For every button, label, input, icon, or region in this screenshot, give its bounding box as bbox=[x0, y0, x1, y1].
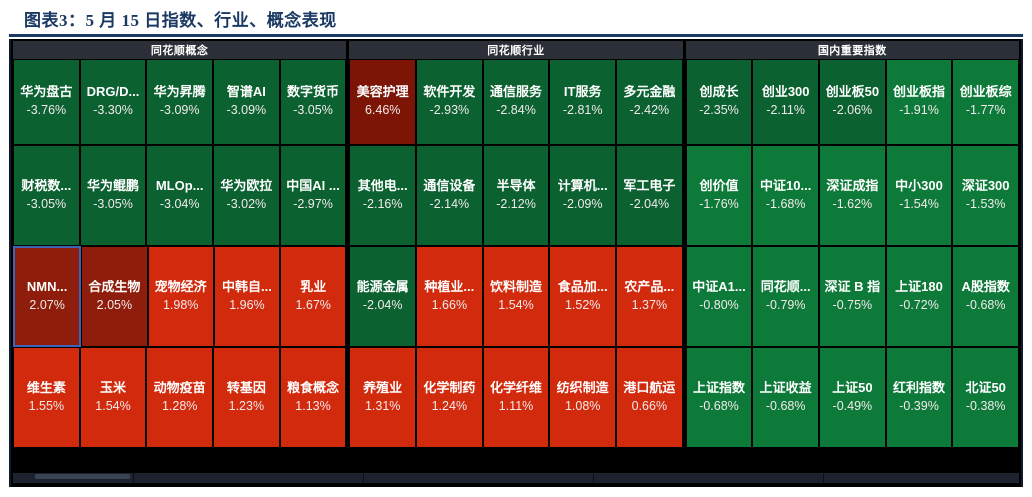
tile-label: 化学纤维 bbox=[490, 381, 542, 396]
tile-value: 1.55% bbox=[29, 398, 64, 414]
tile-value: -2.04% bbox=[630, 196, 670, 212]
heatmap-tile[interactable]: 能源金属-2.04% bbox=[349, 246, 416, 347]
group-column-2: 创成长-2.35%创业300-2.11%创业板50-2.06%创业板指-1.91… bbox=[686, 59, 1019, 145]
scrollbar-tick bbox=[593, 473, 594, 483]
heatmap-tile[interactable]: 创业300-2.11% bbox=[752, 59, 819, 145]
tile-label: 食品加... bbox=[558, 280, 608, 295]
tile-label: 创成长 bbox=[699, 85, 738, 100]
heatmap-tile[interactable]: 饮料制造1.54% bbox=[483, 246, 550, 347]
heatmap-tile[interactable]: 华为欧拉-3.02% bbox=[213, 145, 280, 246]
tile-label: DRG/D... bbox=[87, 85, 140, 100]
tile-value: -0.72% bbox=[899, 297, 939, 313]
heatmap-tile[interactable]: 美容护理6.46% bbox=[349, 59, 416, 145]
tile-label: 玉米 bbox=[100, 381, 126, 396]
scrollbar-thumb[interactable] bbox=[35, 474, 130, 479]
tile-label: 纺织制造 bbox=[557, 381, 609, 396]
group-column-2: 上证指数-0.68%上证收益-0.68%上证50-0.49%红利指数-0.39%… bbox=[686, 347, 1019, 448]
tile-value: -2.35% bbox=[699, 102, 739, 118]
tile-label: 中证10... bbox=[760, 179, 811, 194]
tile-value: -3.09% bbox=[227, 102, 267, 118]
tile-label: 华为昇腾 bbox=[154, 85, 206, 100]
heatmap-tile[interactable]: 半导体-2.12% bbox=[483, 145, 550, 246]
heatmap-tile[interactable]: 维生素1.55% bbox=[13, 347, 80, 448]
tile-label: 中证A1... bbox=[692, 280, 745, 295]
tile-label: 创价值 bbox=[699, 179, 738, 194]
heatmap-tile[interactable]: 玉米1.54% bbox=[80, 347, 147, 448]
tile-label: 上证50 bbox=[832, 381, 872, 396]
tile-label: MLOp... bbox=[156, 179, 204, 194]
tile-label: 华为欧拉 bbox=[220, 179, 272, 194]
tile-label: 粮食概念 bbox=[287, 381, 339, 396]
tile-value: -3.05% bbox=[27, 196, 67, 212]
tile-value: -0.80% bbox=[699, 297, 739, 313]
heatmap-tile[interactable]: 港口航运0.66% bbox=[616, 347, 683, 448]
heatmap-tile[interactable]: 创业板50-2.06% bbox=[819, 59, 886, 145]
heatmap-tile[interactable]: 上证收益-0.68% bbox=[752, 347, 819, 448]
tile-value: -2.84% bbox=[496, 102, 536, 118]
group-header-row: 同花顺概念同花顺行业国内重要指数 bbox=[13, 41, 1019, 59]
group-header-1: 同花顺行业 bbox=[349, 41, 685, 59]
tile-label: 农产品... bbox=[624, 280, 674, 295]
tile-label: 同花顺... bbox=[761, 280, 811, 295]
tile-label: 通信服务 bbox=[490, 85, 542, 100]
tile-label: 美容护理 bbox=[357, 85, 409, 100]
heatmap-tile[interactable]: 数字货币-3.05% bbox=[280, 59, 347, 145]
heatmap-tile[interactable]: 软件开发-2.93% bbox=[416, 59, 483, 145]
tile-value: 1.24% bbox=[432, 398, 467, 414]
group-column-1: 能源金属-2.04%种植业...1.66%饮料制造1.54%食品加...1.52… bbox=[349, 246, 685, 347]
tile-value: -3.76% bbox=[27, 102, 67, 118]
heatmap-tile[interactable]: 上证50-0.49% bbox=[819, 347, 886, 448]
tile-value: -3.30% bbox=[93, 102, 133, 118]
heatmap-tile[interactable]: 其他电...-2.16% bbox=[349, 145, 416, 246]
group-column-2: 中证A1...-0.80%同花顺...-0.79%深证 B 指-0.75%上证1… bbox=[686, 246, 1019, 347]
tile-label: 深证 B 指 bbox=[825, 280, 881, 295]
heatmap-tile[interactable]: 纺织制造1.08% bbox=[549, 347, 616, 448]
scrollbar-tick bbox=[133, 473, 134, 483]
tile-label: 乳业 bbox=[300, 280, 326, 295]
tile-value: 1.13% bbox=[295, 398, 330, 414]
tile-value: -2.81% bbox=[563, 102, 603, 118]
heatmap-tile[interactable]: 化学纤维1.11% bbox=[483, 347, 550, 448]
tile-label: IT服务 bbox=[564, 85, 602, 100]
tile-value: 0.66% bbox=[632, 398, 667, 414]
heatmap-tile[interactable]: 通信设备-2.14% bbox=[416, 145, 483, 246]
scrollbar-tick bbox=[363, 473, 364, 483]
tile-value: -2.42% bbox=[630, 102, 670, 118]
heatmap-tile[interactable]: 乳业1.67% bbox=[280, 246, 346, 347]
tile-label: 上证收益 bbox=[760, 381, 812, 396]
tile-value: 1.28% bbox=[162, 398, 197, 414]
tile-value: -2.93% bbox=[430, 102, 470, 118]
tile-label: 上证180 bbox=[895, 280, 943, 295]
tile-value: -2.04% bbox=[363, 297, 403, 313]
tile-value: 1.11% bbox=[499, 398, 534, 414]
tile-value: 1.96% bbox=[229, 297, 264, 313]
tile-value: -3.09% bbox=[160, 102, 200, 118]
heatmap-tile[interactable]: 食品加...1.52% bbox=[549, 246, 616, 347]
tile-value: -3.04% bbox=[160, 196, 200, 212]
tile-value: -1.68% bbox=[766, 196, 806, 212]
heatmap-row: 华为盘古-3.76%DRG/D...-3.30%华为昇腾-3.09%智谱AI-3… bbox=[13, 59, 1019, 145]
heatmap-panel: 同花顺概念同花顺行业国内重要指数 华为盘古-3.76%DRG/D...-3.30… bbox=[9, 39, 1023, 487]
heatmap-tile[interactable]: 军工电子-2.04% bbox=[616, 145, 683, 246]
heatmap-grid: 华为盘古-3.76%DRG/D...-3.30%华为昇腾-3.09%智谱AI-3… bbox=[13, 59, 1019, 448]
heatmap-tile[interactable]: 中国AI ...-2.97% bbox=[280, 145, 347, 246]
heatmap-tile[interactable]: 合成生物2.05% bbox=[81, 246, 147, 347]
tile-value: 2.07% bbox=[29, 297, 64, 313]
tile-value: -0.68% bbox=[766, 398, 806, 414]
tile-value: 1.98% bbox=[163, 297, 198, 313]
heatmap-tile[interactable]: 计算机...-2.09% bbox=[549, 145, 616, 246]
tile-label: 港口航运 bbox=[623, 381, 675, 396]
heatmap-row: NMN...2.07%合成生物2.05%宠物经济1.98%中韩自...1.96%… bbox=[13, 246, 1019, 347]
tile-label: 软件开发 bbox=[423, 85, 475, 100]
heatmap-tile[interactable]: A股指数-0.68% bbox=[952, 246, 1019, 347]
tile-value: -0.75% bbox=[833, 297, 873, 313]
tile-value: 2.05% bbox=[97, 297, 132, 313]
tile-value: 1.37% bbox=[632, 297, 667, 313]
group-column-1: 美容护理6.46%软件开发-2.93%通信服务-2.84%IT服务-2.81%多… bbox=[349, 59, 685, 145]
heatmap-tile[interactable]: 中小300-1.54% bbox=[886, 145, 953, 246]
horizontal-scrollbar[interactable] bbox=[13, 473, 1019, 483]
tile-value: -3.05% bbox=[93, 196, 133, 212]
heatmap-tile[interactable]: 深证成指-1.62% bbox=[819, 145, 886, 246]
tile-label: 华为盘古 bbox=[20, 85, 72, 100]
tile-value: 1.23% bbox=[229, 398, 264, 414]
tile-label: 宠物经济 bbox=[155, 280, 207, 295]
heatmap-tile[interactable]: 转基因1.23% bbox=[213, 347, 280, 448]
heatmap-tile[interactable]: 化学制药1.24% bbox=[416, 347, 483, 448]
tile-value: -2.09% bbox=[563, 196, 603, 212]
tile-value: -1.91% bbox=[899, 102, 939, 118]
heatmap-tile[interactable]: 创价值-1.76% bbox=[686, 145, 753, 246]
tile-label: 通信设备 bbox=[423, 179, 475, 194]
tile-value: 1.54% bbox=[498, 297, 533, 313]
heatmap-tile[interactable]: MLOp...-3.04% bbox=[146, 145, 213, 246]
tile-label: 维生素 bbox=[27, 381, 66, 396]
tile-value: -0.49% bbox=[833, 398, 873, 414]
heatmap-tile[interactable]: 上证180-0.72% bbox=[886, 246, 953, 347]
page-title: 图表3：5 月 15 日指数、行业、概念表现 bbox=[24, 6, 337, 31]
tile-label: 能源金属 bbox=[357, 280, 409, 295]
heatmap-tile[interactable]: IT服务-2.81% bbox=[549, 59, 616, 145]
tile-label: 化学制药 bbox=[423, 381, 475, 396]
tile-value: 1.54% bbox=[95, 398, 130, 414]
tile-label: 转基因 bbox=[227, 381, 266, 396]
tile-label: 中小300 bbox=[895, 179, 943, 194]
heatmap-tile[interactable]: 中韩自...1.96% bbox=[214, 246, 280, 347]
tile-label: 计算机... bbox=[558, 179, 608, 194]
group-column-0: 财税数...-3.05%华为鲲鹏-3.05%MLOp...-3.04%华为欧拉-… bbox=[13, 145, 349, 246]
tile-value: -1.62% bbox=[833, 196, 873, 212]
heatmap-tile[interactable]: 深证 B 指-0.75% bbox=[819, 246, 886, 347]
heatmap-tile[interactable]: 粮食概念1.13% bbox=[280, 347, 347, 448]
tile-value: -3.02% bbox=[227, 196, 267, 212]
tile-label: 深证成指 bbox=[826, 179, 878, 194]
scrollbar-tick bbox=[823, 473, 824, 483]
tile-value: -1.76% bbox=[699, 196, 739, 212]
tile-label: 创业300 bbox=[762, 85, 810, 100]
tile-label: 深证300 bbox=[962, 179, 1010, 194]
group-column-2: 创价值-1.76%中证10...-1.68%深证成指-1.62%中小300-1.… bbox=[686, 145, 1019, 246]
tile-label: 创业板综 bbox=[960, 85, 1012, 100]
tile-value: -2.97% bbox=[293, 196, 333, 212]
tile-value: 6.46% bbox=[365, 102, 400, 118]
heatmap-tile[interactable]: 财税数...-3.05% bbox=[13, 145, 80, 246]
title-area: 图表3：5 月 15 日指数、行业、概念表现 bbox=[0, 0, 1032, 38]
tile-label: 军工电子 bbox=[623, 179, 675, 194]
heatmap-tile[interactable]: 农产品...1.37% bbox=[616, 246, 683, 347]
tile-label: 种植业... bbox=[424, 280, 474, 295]
tile-label: 创业板指 bbox=[893, 85, 945, 100]
heatmap-row: 维生素1.55%玉米1.54%动物疫苗1.28%转基因1.23%粮食概念1.13… bbox=[13, 347, 1019, 448]
tile-label: 红利指数 bbox=[893, 381, 945, 396]
heatmap-tile[interactable]: 北证50-0.38% bbox=[952, 347, 1019, 448]
tile-label: 创业板50 bbox=[826, 85, 879, 100]
tile-value: -1.54% bbox=[899, 196, 939, 212]
tile-label: 动物疫苗 bbox=[154, 381, 206, 396]
heatmap-tile[interactable]: 华为昇腾-3.09% bbox=[146, 59, 213, 145]
tile-value: -2.11% bbox=[766, 102, 805, 118]
heatmap-row: 财税数...-3.05%华为鲲鹏-3.05%MLOp...-3.04%华为欧拉-… bbox=[13, 145, 1019, 246]
heatmap-tile[interactable]: 华为鲲鹏-3.05% bbox=[80, 145, 147, 246]
heatmap-tile[interactable]: 创业板指-1.91% bbox=[886, 59, 953, 145]
group-column-0: 维生素1.55%玉米1.54%动物疫苗1.28%转基因1.23%粮食概念1.13… bbox=[13, 347, 349, 448]
tile-value: -2.12% bbox=[496, 196, 536, 212]
heatmap-tile[interactable]: 宠物经济1.98% bbox=[148, 246, 214, 347]
heatmap-tile[interactable]: 华为盘古-3.76% bbox=[13, 59, 80, 145]
tile-value: -2.16% bbox=[363, 196, 403, 212]
heatmap-tile[interactable]: 红利指数-0.39% bbox=[886, 347, 953, 448]
tile-label: 智谱AI bbox=[227, 85, 266, 100]
heatmap-tile[interactable]: 中证A1...-0.80% bbox=[686, 246, 753, 347]
tile-value: -1.53% bbox=[966, 196, 1006, 212]
group-header-0: 同花顺概念 bbox=[13, 41, 349, 59]
tile-value: 1.67% bbox=[295, 297, 330, 313]
tile-value: -0.39% bbox=[899, 398, 939, 414]
tile-label: 财税数... bbox=[21, 179, 71, 194]
tile-label: 多元金融 bbox=[623, 85, 675, 100]
heatmap-tile[interactable]: NMN...2.07% bbox=[13, 246, 81, 347]
tile-value: -3.05% bbox=[293, 102, 333, 118]
tile-label: 数字货币 bbox=[287, 85, 339, 100]
heatmap-tile[interactable]: 智谱AI-3.09% bbox=[213, 59, 280, 145]
tile-label: 北证50 bbox=[965, 381, 1005, 396]
tile-value: -0.68% bbox=[966, 297, 1006, 313]
tile-label: 饮料制造 bbox=[490, 280, 542, 295]
group-column-1: 其他电...-2.16%通信设备-2.14%半导体-2.12%计算机...-2.… bbox=[349, 145, 685, 246]
tile-label: 其他电... bbox=[358, 179, 408, 194]
heatmap-page: 图表3：5 月 15 日指数、行业、概念表现 同花顺概念同花顺行业国内重要指数 … bbox=[0, 0, 1032, 497]
tile-label: A股指数 bbox=[961, 280, 1009, 295]
heatmap-tile[interactable]: 创业板综-1.77% bbox=[952, 59, 1019, 145]
heatmap-tile[interactable]: DRG/D...-3.30% bbox=[80, 59, 147, 145]
tile-label: 中国AI ... bbox=[286, 179, 339, 194]
tile-value: -0.68% bbox=[699, 398, 739, 414]
tile-label: 养殖业 bbox=[363, 381, 402, 396]
heatmap-tile[interactable]: 同花顺...-0.79% bbox=[752, 246, 819, 347]
heatmap-tile[interactable]: 多元金融-2.42% bbox=[616, 59, 683, 145]
group-column-1: 养殖业1.31%化学制药1.24%化学纤维1.11%纺织制造1.08%港口航运0… bbox=[349, 347, 685, 448]
group-header-2: 国内重要指数 bbox=[686, 41, 1019, 59]
heatmap-tile[interactable]: 种植业...1.66% bbox=[416, 246, 483, 347]
heatmap-tile[interactable]: 深证300-1.53% bbox=[952, 145, 1019, 246]
tile-label: 合成生物 bbox=[88, 280, 140, 295]
group-column-0: 华为盘古-3.76%DRG/D...-3.30%华为昇腾-3.09%智谱AI-3… bbox=[13, 59, 349, 145]
tile-value: 1.52% bbox=[565, 297, 600, 313]
title-divider bbox=[9, 34, 1023, 37]
heatmap-tile[interactable]: 创成长-2.35% bbox=[686, 59, 753, 145]
tile-label: 中韩自... bbox=[222, 280, 272, 295]
tile-value: 1.66% bbox=[432, 297, 467, 313]
heatmap-tile[interactable]: 养殖业1.31% bbox=[349, 347, 416, 448]
tile-value: -2.14% bbox=[430, 196, 470, 212]
tile-value: -0.38% bbox=[966, 398, 1006, 414]
tile-label: 华为鲲鹏 bbox=[87, 179, 139, 194]
tile-value: -1.77% bbox=[966, 102, 1006, 118]
heatmap-tile[interactable]: 通信服务-2.84% bbox=[483, 59, 550, 145]
heatmap-tile[interactable]: 中证10...-1.68% bbox=[752, 145, 819, 246]
tile-value: -0.79% bbox=[766, 297, 806, 313]
tile-value: 1.31% bbox=[365, 398, 400, 414]
heatmap-tile[interactable]: 上证指数-0.68% bbox=[686, 347, 753, 448]
group-column-0: NMN...2.07%合成生物2.05%宠物经济1.98%中韩自...1.96%… bbox=[13, 246, 349, 347]
tile-label: NMN... bbox=[27, 280, 67, 295]
tile-label: 上证指数 bbox=[693, 381, 745, 396]
heatmap-tile[interactable]: 动物疫苗1.28% bbox=[146, 347, 213, 448]
tile-value: -2.06% bbox=[833, 102, 873, 118]
tile-label: 半导体 bbox=[497, 179, 536, 194]
tile-value: 1.08% bbox=[565, 398, 600, 414]
